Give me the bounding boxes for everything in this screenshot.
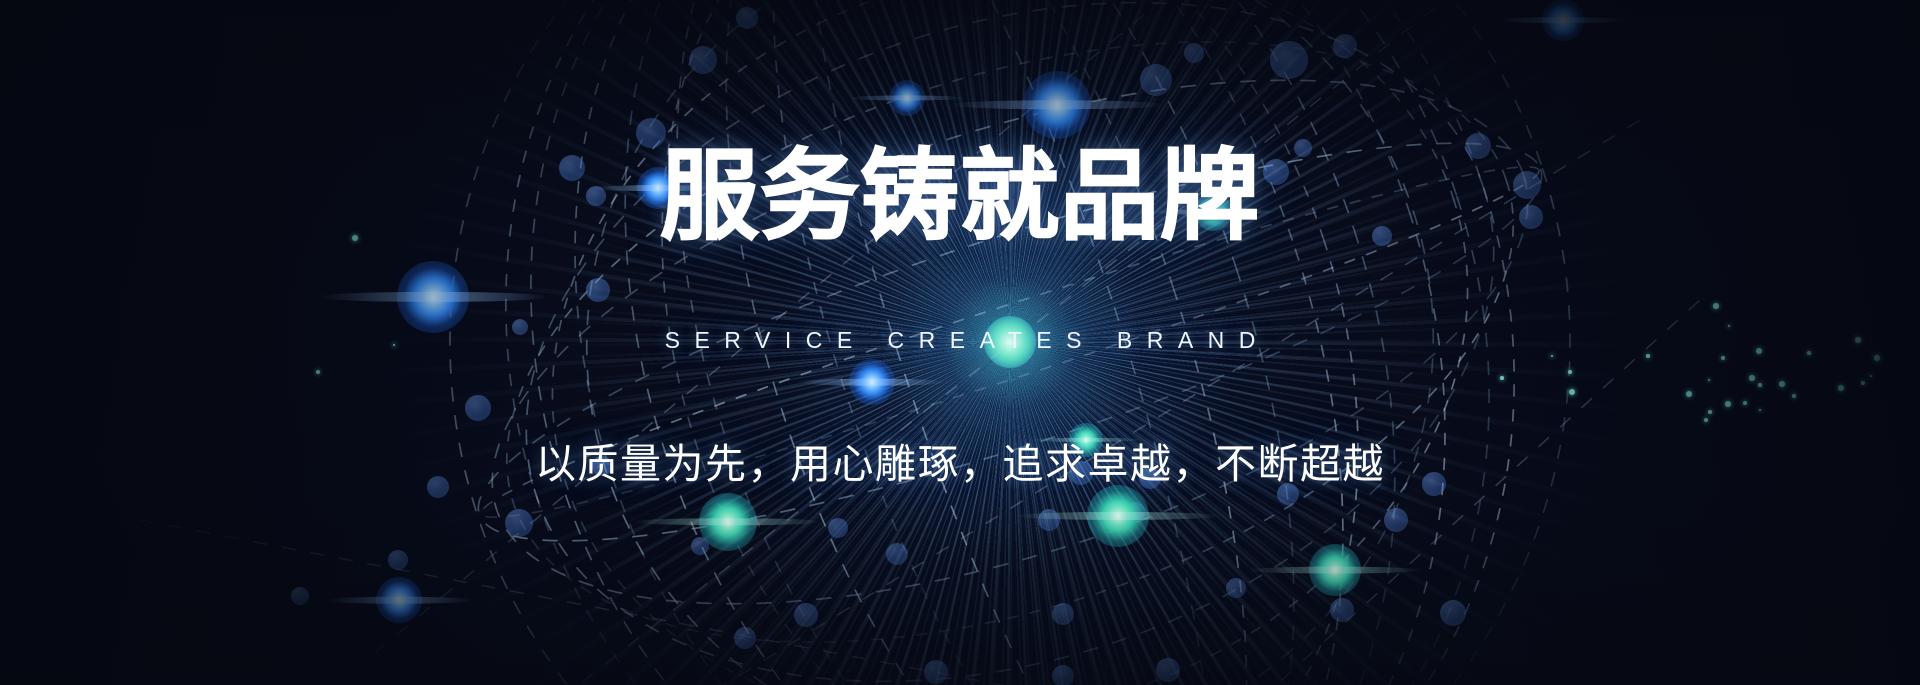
- subtitle-english: SERVICE CREATES BRAND: [650, 327, 1270, 354]
- page-title: 服务铸就品牌: [660, 146, 1260, 245]
- hero-banner: 服务铸就品牌 SERVICE CREATES BRAND 以质量为先，用心雕琢，…: [0, 0, 1920, 685]
- banner-content: 服务铸就品牌 SERVICE CREATES BRAND 以质量为先，用心雕琢，…: [0, 0, 1920, 685]
- tagline-chinese: 以质量为先，用心雕琢，追求卓越，不断超越: [535, 430, 1385, 490]
